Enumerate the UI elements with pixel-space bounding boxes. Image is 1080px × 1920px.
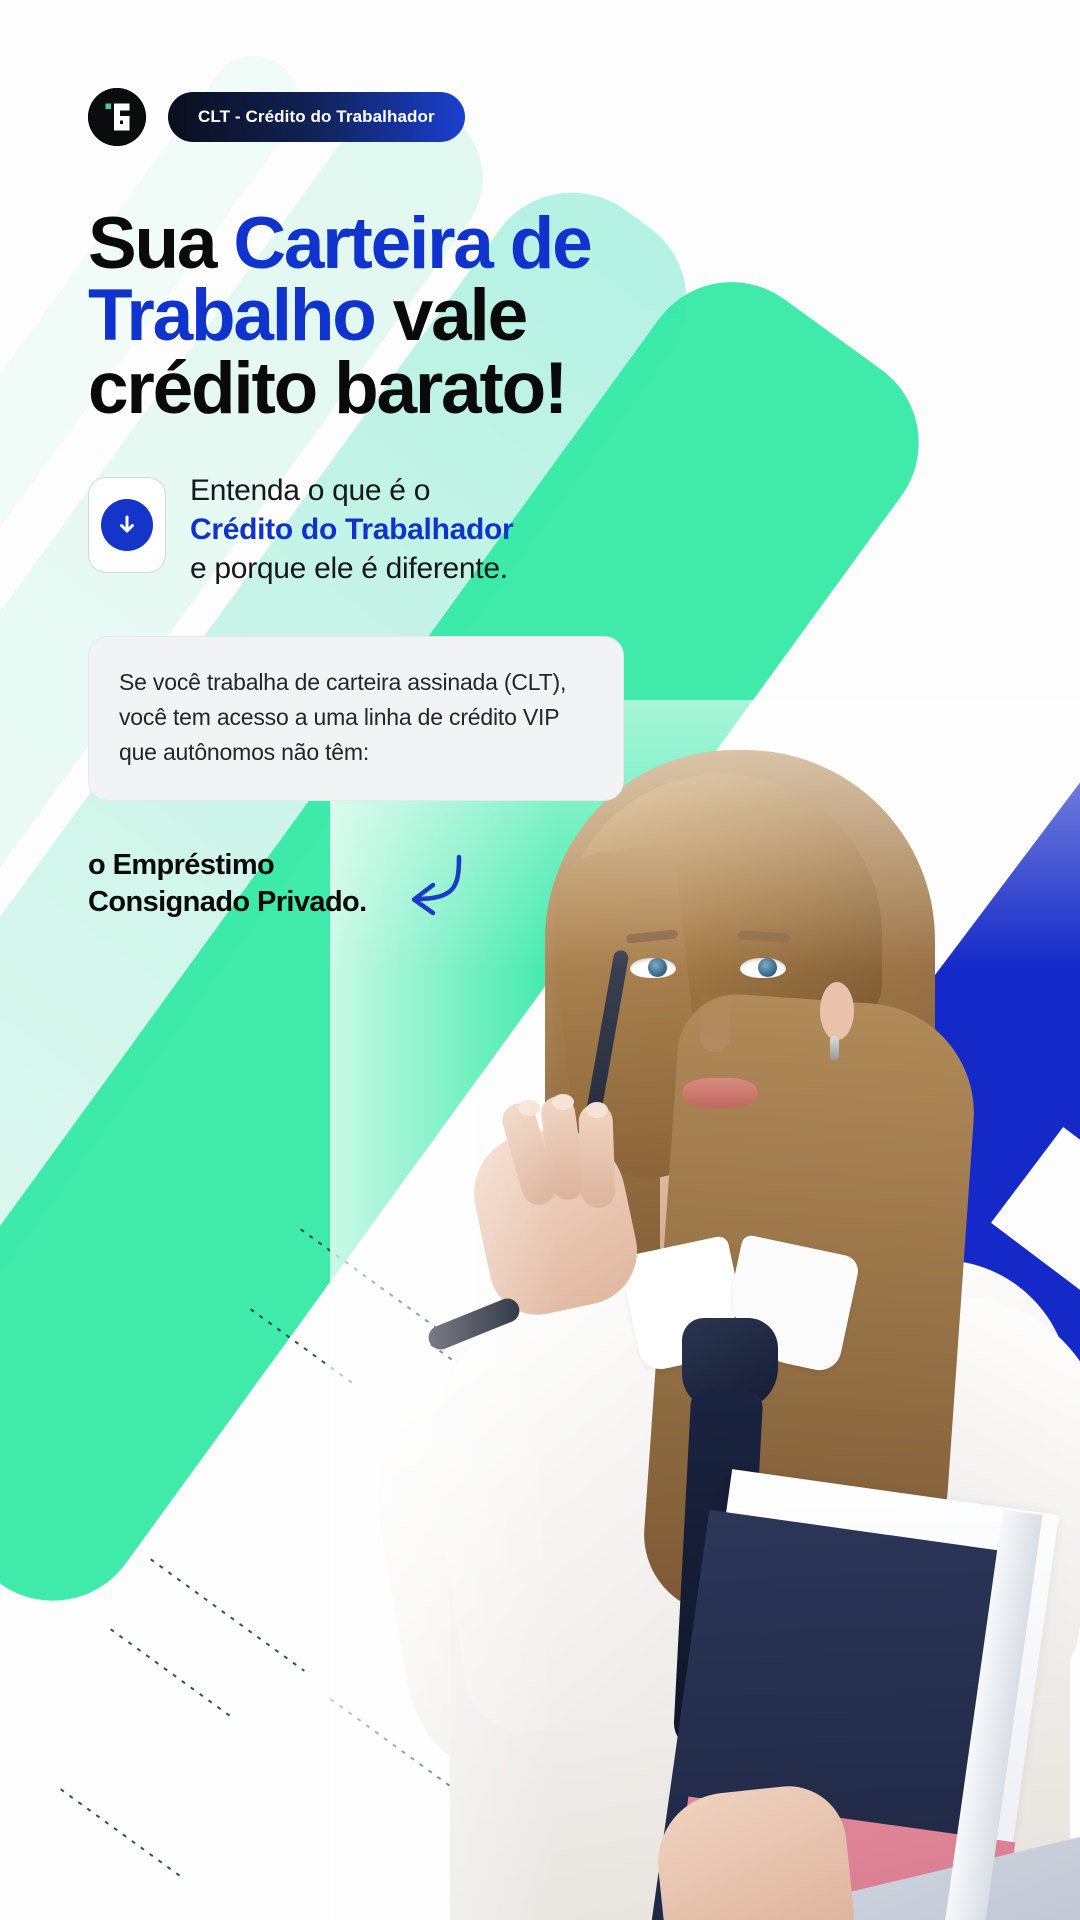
earring (830, 1036, 839, 1060)
page-title: Sua Carteira de Trabalho vale crédito ba… (88, 208, 992, 425)
kicker-row: o Empréstimo Consignado Privado. (88, 847, 992, 932)
iris-left (648, 958, 667, 977)
subheading-row: Entenda o que é o Crédito do Trabalhador… (88, 471, 992, 588)
headline-line1-plain: Sua (88, 203, 233, 284)
fingernail-2 (552, 1094, 574, 1110)
curved-arrow-left-icon (385, 841, 471, 932)
ear (820, 982, 854, 1040)
kicker-text: o Empréstimo Consignado Privado. (88, 847, 367, 922)
poster-content: CLT - Crédito do Trabalhador Sua Carteir… (0, 0, 1080, 932)
headline-line2-plain: vale (375, 275, 526, 356)
brand-logo-icon[interactable] (88, 88, 146, 146)
lips (682, 1078, 758, 1108)
subheading-text: Entenda o que é o Crédito do Trabalhador… (190, 471, 513, 588)
headline-line2-accent: Trabalho (88, 275, 375, 356)
iris-right (758, 958, 777, 977)
nose (700, 990, 730, 1052)
download-arrow-icon (101, 499, 153, 551)
kicker-line1: o Empréstimo (88, 849, 274, 881)
finger-3 (578, 1103, 616, 1208)
kicker-line2: Consignado Privado. (88, 886, 367, 918)
dotted-line-7 (60, 1788, 183, 1878)
clt-badge[interactable]: CLT - Crédito do Trabalhador (168, 92, 465, 142)
dotted-line-4 (150, 1558, 305, 1671)
headline-line3: crédito barato! (88, 348, 566, 429)
poster-canvas: CLT - Crédito do Trabalhador Sua Carteir… (0, 0, 1080, 1920)
subheading-line2-accent: Crédito do Trabalhador (190, 513, 513, 546)
fingernail-1 (518, 1100, 540, 1116)
info-card: Se você trabalha de carteira assinada (C… (88, 636, 624, 801)
download-arrow-icon-box[interactable] (88, 477, 166, 573)
headline-line1-accent: Carteira de (233, 203, 590, 284)
subheading-line3: e porque ele é diferente. (190, 552, 508, 585)
subheading-line1: Entenda o que é o (190, 474, 430, 507)
header-row: CLT - Crédito do Trabalhador (88, 0, 992, 146)
dotted-line-5 (110, 1628, 233, 1718)
fingernail-3 (586, 1102, 608, 1118)
